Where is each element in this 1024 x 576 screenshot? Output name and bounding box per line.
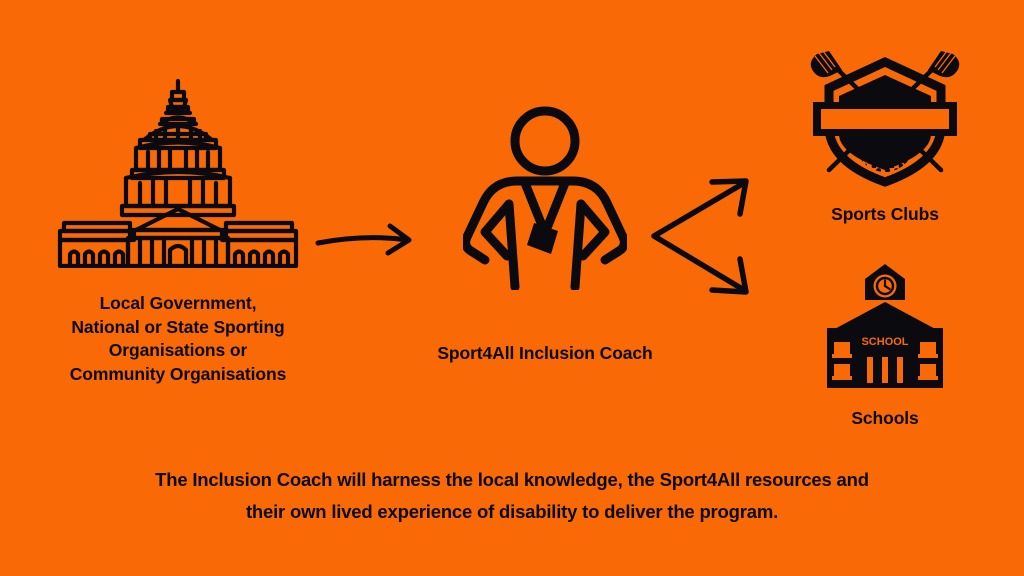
diagram-node-coach: Sport4All Inclusion Coach [420, 100, 670, 365]
capitol-building-icon [52, 78, 304, 268]
caption-line-1: The Inclusion Coach will harness the loc… [0, 464, 1024, 496]
diagram-node-government-label: Local Government, National or State Spor… [38, 292, 318, 386]
diagram-node-sports-clubs: Sports Clubs [760, 42, 1010, 226]
diagram-canvas: Local Government, National or State Spor… [0, 0, 1024, 576]
diagram-node-coach-label: Sport4All Inclusion Coach [437, 342, 652, 365]
right-arrow-icon [310, 212, 420, 277]
diagram-node-government: Local Government, National or State Spor… [18, 78, 338, 386]
caption-line-2: their own lived experience of disability… [0, 496, 1024, 528]
diagram-node-schools-label: Schools [851, 407, 918, 430]
diagram-caption: The Inclusion Coach will harness the loc… [0, 464, 1024, 528]
school-building-icon: SCHOOL [815, 262, 955, 390]
diagram-node-schools: SCHOOL [770, 262, 1000, 430]
diagram-node-sports-clubs-label: Sports Clubs [831, 203, 939, 226]
branching-arrow-icon [648, 166, 768, 311]
golf-shield-emblem-icon [795, 42, 975, 190]
school-sign-text: SCHOOL [861, 336, 908, 348]
coach-person-whistle-icon [463, 100, 627, 290]
